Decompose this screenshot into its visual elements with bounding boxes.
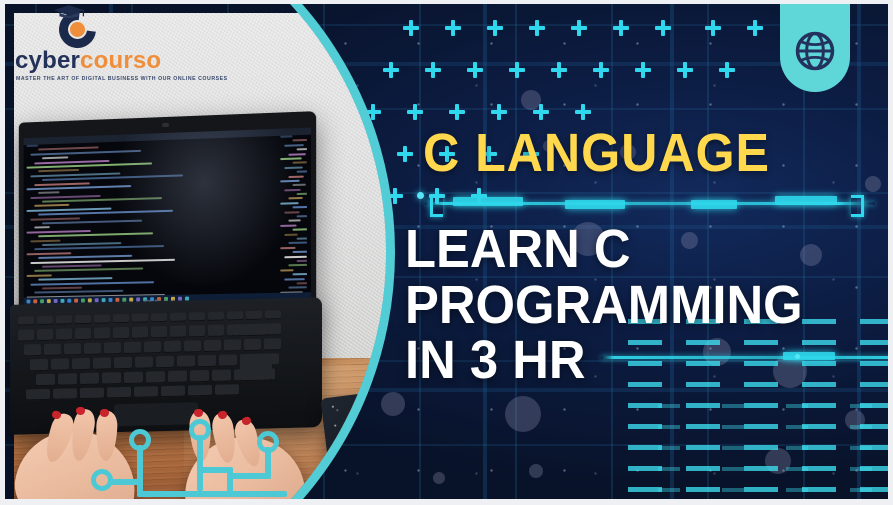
headline-line-1: LEARN C: [405, 222, 803, 278]
logo-tagline: MASTER THE ART OF DIGITAL BUSINESS WITH …: [16, 76, 191, 82]
course-banner: DELL: [0, 0, 893, 505]
screen-glare: [119, 128, 311, 304]
laptop-webcam: [162, 123, 169, 127]
circuit-dash-field-secondary: [638, 404, 888, 499]
left-nail-2: [76, 407, 85, 415]
headline-line-3: IN 3 HR: [405, 333, 803, 389]
logo-word-courso: courso: [80, 47, 161, 74]
laptop-screen: [24, 128, 311, 306]
secondary-device: [320, 384, 395, 498]
headline: LEARN C PROGRAMMING IN 3 HR: [405, 222, 803, 389]
brand-logo[interactable]: cybercourso MASTER THE ART OF DIGITAL BU…: [13, 6, 191, 82]
laptop-keyboard: [18, 309, 312, 400]
logo-c-dot: [70, 22, 85, 37]
graduation-cap-c-icon: [51, 6, 111, 48]
banner-canvas: DELL: [5, 4, 888, 499]
headline-line-2: PROGRAMMING: [405, 278, 803, 334]
logo-word-cyber: cyber: [15, 47, 80, 74]
left-nail-3: [100, 409, 109, 417]
globe-badge[interactable]: [780, 4, 850, 92]
laptop-lid: DELL: [19, 111, 316, 314]
logo-wordmark: cybercourso: [15, 49, 191, 73]
graduation-cap-icon: [53, 4, 85, 19]
eyebrow-title: C LANGUAGE: [423, 126, 770, 180]
circuit-node-decoration: [145, 417, 305, 497]
right-nail-1: [194, 409, 203, 417]
globe-icon: [794, 30, 836, 72]
